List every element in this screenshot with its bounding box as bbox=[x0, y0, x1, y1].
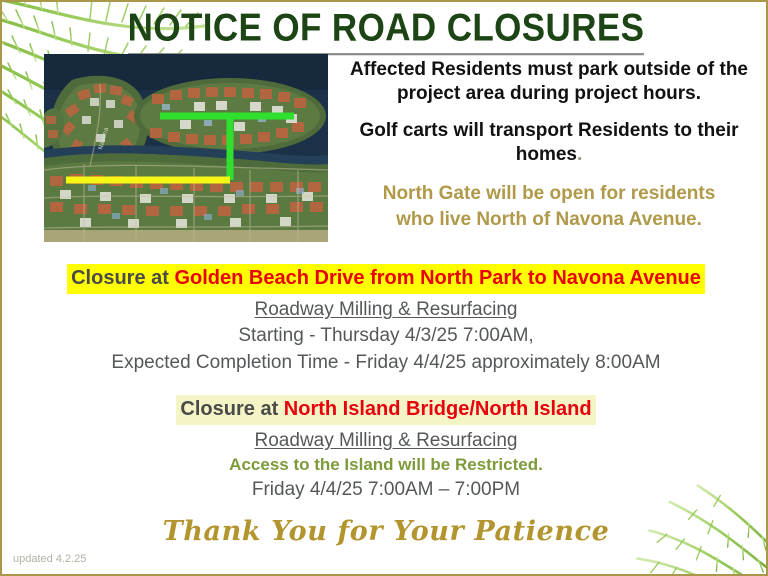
notice-text-block: Affected Residents must park outside of … bbox=[336, 58, 762, 232]
closure-work-type: Roadway Milling & Resurfacing bbox=[2, 299, 768, 321]
closure-prefix-label: Closure at bbox=[180, 398, 283, 420]
closure-section-north-island-bridge: Closure at North Island Bridge/North Isl… bbox=[2, 395, 768, 502]
parking-instruction-text: Affected Residents must park outside of … bbox=[336, 58, 762, 107]
north-gate-line-1: North Gate will be open for residents bbox=[336, 181, 762, 206]
golf-cart-text-main: Golf carts will transport Residents to t… bbox=[359, 120, 738, 165]
closure-schedule-line: Expected Completion Time - Friday 4/4/25… bbox=[2, 350, 768, 375]
page-title: NOTICE OF ROAD CLOSURES bbox=[2, 6, 768, 50]
road-closure-notice-poster: NOTICE OF ROAD CLOSURES bbox=[0, 0, 768, 576]
golf-cart-text-period: . bbox=[577, 144, 582, 165]
closure-road-name: North Island Bridge/North Island bbox=[284, 398, 592, 420]
closure-heading-wrap: Closure at North Island Bridge/North Isl… bbox=[2, 395, 768, 425]
north-gate-line-2: who live North of Navona Avenue. bbox=[336, 207, 762, 232]
aerial-map-image: Navona bbox=[44, 54, 328, 242]
page-title-text: NOTICE OF ROAD CLOSURES bbox=[128, 6, 645, 55]
closure-heading: Closure at North Island Bridge/North Isl… bbox=[176, 395, 595, 425]
updated-timestamp: updated 4.2.25 bbox=[13, 553, 86, 565]
closure-work-type: Roadway Milling & Resurfacing bbox=[2, 430, 768, 452]
closure-heading-wrap: Closure at Golden Beach Drive from North… bbox=[2, 264, 768, 294]
aerial-map-graphic: Navona bbox=[44, 54, 328, 242]
closure-access-note: Access to the Island will be Restricted. bbox=[2, 455, 768, 475]
thank-you-message: Thank You for Your Patience bbox=[2, 516, 768, 547]
closure-schedule-line: Friday 4/4/25 7:00AM – 7:00PM bbox=[2, 477, 768, 502]
closure-section-golden-beach-drive: Closure at Golden Beach Drive from North… bbox=[2, 264, 768, 375]
closure-heading: Closure at Golden Beach Drive from North… bbox=[67, 264, 705, 294]
golf-cart-text: Golf carts will transport Residents to t… bbox=[336, 119, 762, 168]
closure-schedule-line: Starting - Thursday 4/3/25 7:00AM, bbox=[2, 323, 768, 348]
closure-road-name: Golden Beach Drive from North Park to Na… bbox=[174, 267, 700, 289]
closure-prefix-label: Closure at bbox=[71, 267, 174, 289]
